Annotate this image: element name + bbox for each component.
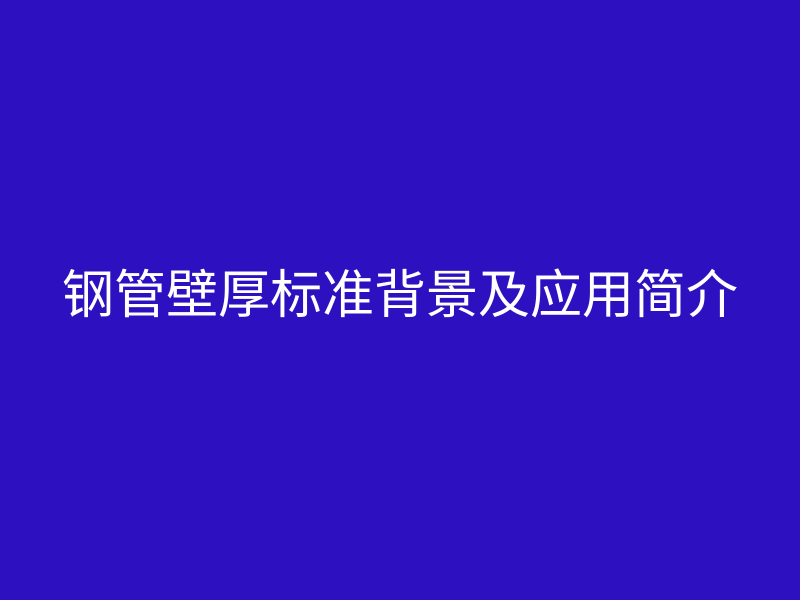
page-title: 钢管壁厚标准背景及应用简介 <box>0 267 800 327</box>
slide-canvas: 钢管壁厚标准背景及应用简介 <box>0 0 800 600</box>
